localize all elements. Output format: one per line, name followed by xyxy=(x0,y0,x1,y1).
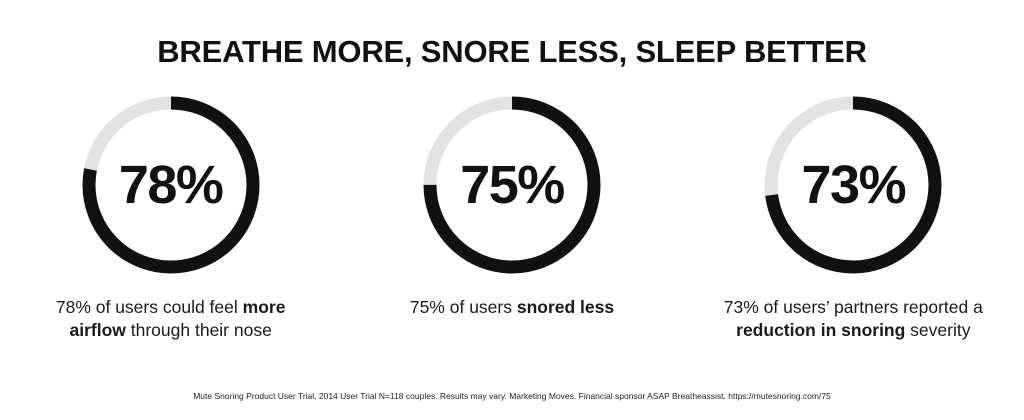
infographic-root: BREATHE MORE, SNORE LESS, SLEEP BETTER 7… xyxy=(0,0,1024,420)
donut-value-label: 73% xyxy=(764,96,942,274)
footnote-disclaimer: Mute Snoring Product User Trial, 2014 Us… xyxy=(0,390,1024,402)
caption-emphasis: snored less xyxy=(517,297,614,317)
donut-value-label: 75% xyxy=(423,96,601,274)
donut-chart-airflow: 78% xyxy=(82,96,260,274)
caption-text: 78% of users could feel xyxy=(56,297,243,317)
stat-card-partners: 73% 73% of users’ partners reported a re… xyxy=(693,96,1013,342)
donut-chart-partners: 73% xyxy=(764,96,942,274)
stat-card-airflow: 78% 78% of users could feel more airflow… xyxy=(11,96,331,342)
stat-caption: 75% of users snored less xyxy=(410,296,614,319)
caption-emphasis: reduction in snoring xyxy=(736,320,905,340)
caption-text: through their nose xyxy=(126,320,272,340)
stats-row: 78% 78% of users could feel more airflow… xyxy=(0,96,1024,342)
caption-text: 73% of users’ partners reported a xyxy=(724,297,983,317)
page-title: BREATHE MORE, SNORE LESS, SLEEP BETTER xyxy=(0,34,1024,70)
caption-text: 75% of users xyxy=(410,297,517,317)
donut-value-label: 78% xyxy=(82,96,260,274)
donut-chart-snoring: 75% xyxy=(423,96,601,274)
stat-caption: 73% of users’ partners reported a reduct… xyxy=(723,296,983,342)
stat-caption: 78% of users could feel more airflow thr… xyxy=(41,296,301,342)
caption-text: severity xyxy=(905,320,970,340)
stat-card-snoring: 75% 75% of users snored less xyxy=(352,96,672,319)
